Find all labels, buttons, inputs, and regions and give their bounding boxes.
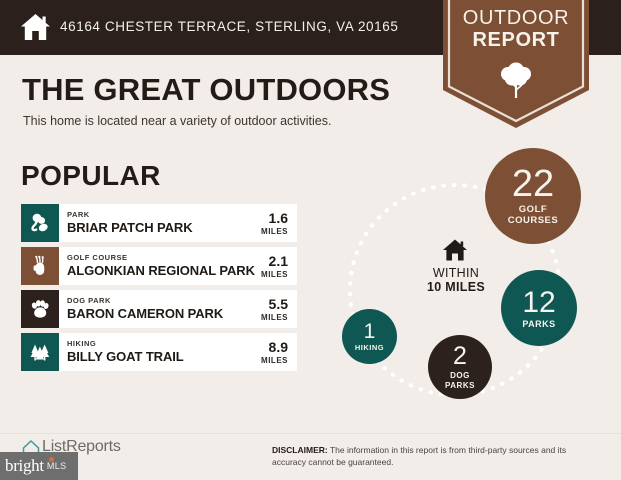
list-item-distance: 8.9 MILES — [261, 340, 297, 365]
stat-label-line-1: DOG — [450, 371, 470, 380]
home-icon — [20, 12, 51, 42]
list-item-name: ALGONKIAN REGIONAL PARK — [67, 264, 261, 278]
bright-mls-badge: bright MLS — [0, 452, 78, 480]
list-item-category: PARK — [67, 211, 261, 219]
within-10-miles-label: WITHIN 10 MILES — [406, 266, 506, 295]
list-item[interactable]: GOLF COURSE ALGONKIAN REGIONAL PARK 2.1 … — [21, 247, 297, 285]
bright-mls-suffix: MLS — [47, 461, 67, 471]
bright-mls-dot — [49, 457, 54, 462]
page-title: THE GREAT OUTDOORS — [22, 72, 390, 108]
list-item[interactable]: PARK BRIAR PATCH PARK 1.6 MILES — [21, 204, 297, 242]
outdoor-report-badge: OUTDOOR REPORT — [443, 0, 589, 128]
list-item-distance: 1.6 MILES — [261, 211, 297, 236]
park-tree-icon — [21, 204, 59, 242]
popular-list: PARK BRIAR PATCH PARK 1.6 MILES — [21, 204, 297, 376]
list-item-distance-unit: MILES — [261, 270, 288, 279]
stat-value: 2 — [453, 344, 467, 369]
stat-label-line-1: PARKS — [522, 320, 555, 329]
list-item-category: GOLF COURSE — [67, 254, 261, 262]
list-item-distance-unit: MILES — [261, 356, 288, 365]
stat-label-line-2: COURSES — [508, 216, 558, 227]
stat-circle-golf-courses[interactable]: 22 GOLF COURSES — [485, 148, 581, 244]
page-subtitle: This home is located near a variety of o… — [23, 114, 331, 128]
property-address: 46164 CHESTER TERRACE, STERLING, VA 2016… — [60, 19, 398, 34]
stat-value: 1 — [364, 321, 376, 342]
disclaimer: DISCLAIMER: The information in this repo… — [272, 444, 597, 469]
popular-heading: POPULAR — [21, 160, 161, 192]
list-item-distance-value: 1.6 — [261, 211, 288, 225]
list-item-name: BILLY GOAT TRAIL — [67, 350, 261, 364]
stat-value: 22 — [512, 165, 554, 203]
paw-print-icon — [21, 290, 59, 328]
outdoor-report-page: 46164 CHESTER TERRACE, STERLING, VA 2016… — [0, 0, 621, 480]
list-item[interactable]: DOG PARK BARON CAMERON PARK 5.5 MILES — [21, 290, 297, 328]
list-item-category: HIKING — [67, 340, 261, 348]
list-item-distance-value: 5.5 — [261, 297, 288, 311]
stat-value: 12 — [522, 288, 555, 318]
list-item-category: DOG PARK — [67, 297, 261, 305]
disclaimer-label: DISCLAIMER: — [272, 445, 328, 455]
stat-label-line-2: PARKS — [445, 381, 475, 390]
bright-mls-brand: bright — [5, 456, 44, 476]
stat-circle-parks[interactable]: 12 PARKS — [501, 270, 577, 346]
stat-label-line-1: HIKING — [355, 344, 384, 352]
stat-circle-dog-parks[interactable]: 2 DOG PARKS — [428, 335, 492, 399]
list-item[interactable]: HIKING BILLY GOAT TRAIL 8.9 MILES — [21, 333, 297, 371]
list-item-name: BRIAR PATCH PARK — [67, 221, 261, 235]
pine-trees-icon — [21, 333, 59, 371]
list-item-distance-value: 8.9 — [261, 340, 288, 354]
within-line-2: 10 MILES — [406, 280, 506, 294]
list-item-distance-value: 2.1 — [261, 254, 288, 268]
list-item-distance-unit: MILES — [261, 313, 288, 322]
list-item-distance-unit: MILES — [261, 227, 288, 236]
list-item-distance: 5.5 MILES — [261, 297, 297, 322]
within-line-1: WITHIN — [406, 266, 506, 280]
golf-bag-icon — [21, 247, 59, 285]
home-icon — [442, 238, 468, 262]
list-item-name: BARON CAMERON PARK — [67, 307, 261, 321]
footer-divider — [0, 433, 621, 434]
stat-circle-hiking[interactable]: 1 HIKING — [342, 309, 397, 364]
within-10-miles-diagram: 22 GOLF COURSES 12 PARKS 2 DOG PARKS 1 H… — [320, 135, 610, 425]
list-item-distance: 2.1 MILES — [261, 254, 297, 279]
